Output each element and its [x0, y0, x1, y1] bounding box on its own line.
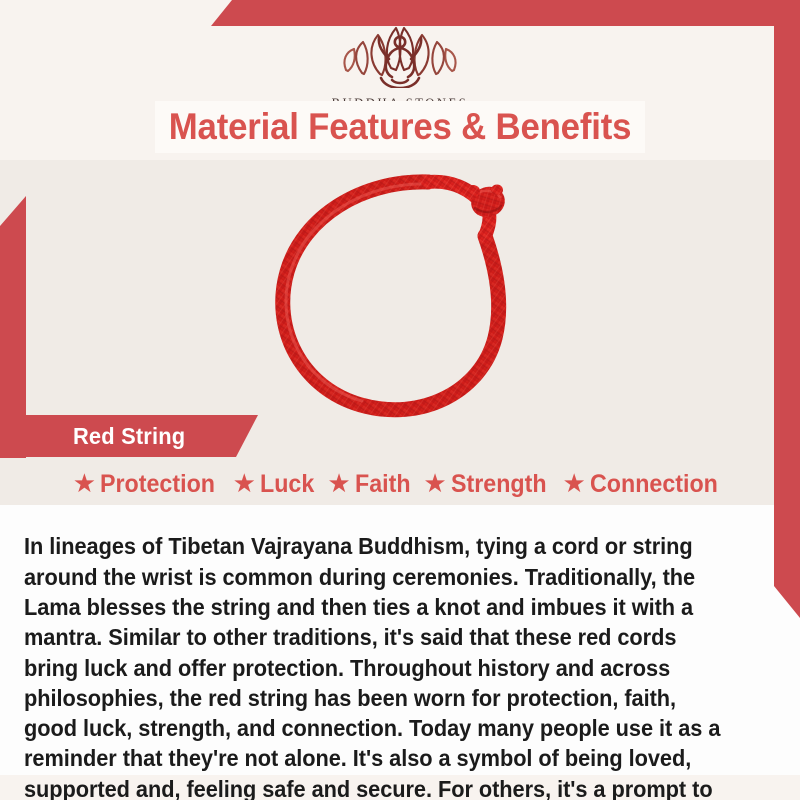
benefit-label: Luck: [260, 470, 314, 499]
lotus-meditation-icon: [0, 18, 800, 93]
page-title: Material Features & Benefits: [169, 106, 631, 148]
material-name-banner: Red String: [0, 415, 258, 457]
red-string-bracelet-icon: [245, 160, 555, 433]
infographic-card: BUDDHA STONES Material Features & Benefi…: [0, 0, 800, 800]
brand-logo: BUDDHA STONES: [0, 18, 800, 111]
star-icon: ★: [423, 470, 446, 496]
benefit-item: ★ Strength: [423, 470, 553, 499]
star-icon: ★: [73, 470, 96, 496]
description-text: In lineages of Tibetan Vajrayana Buddhis…: [24, 531, 723, 800]
benefit-label: Faith: [355, 470, 411, 499]
title-band: Material Features & Benefits: [155, 101, 645, 153]
star-icon: ★: [562, 470, 585, 496]
benefit-item: ★ Connection: [562, 470, 727, 499]
benefit-item: ★ Luck: [233, 470, 319, 499]
benefit-label: Strength: [451, 470, 547, 499]
benefits-list: ★ Protection ★ Luck ★ Faith ★ Strength ★…: [22, 466, 778, 502]
benefit-label: Protection: [100, 470, 215, 499]
benefit-item: ★ Faith: [327, 470, 414, 499]
star-icon: ★: [327, 470, 350, 496]
benefit-label: Connection: [590, 470, 718, 499]
product-image: [0, 160, 800, 430]
benefit-item: ★ Protection: [73, 470, 224, 499]
material-name: Red String: [73, 423, 185, 450]
star-icon: ★: [233, 470, 256, 496]
